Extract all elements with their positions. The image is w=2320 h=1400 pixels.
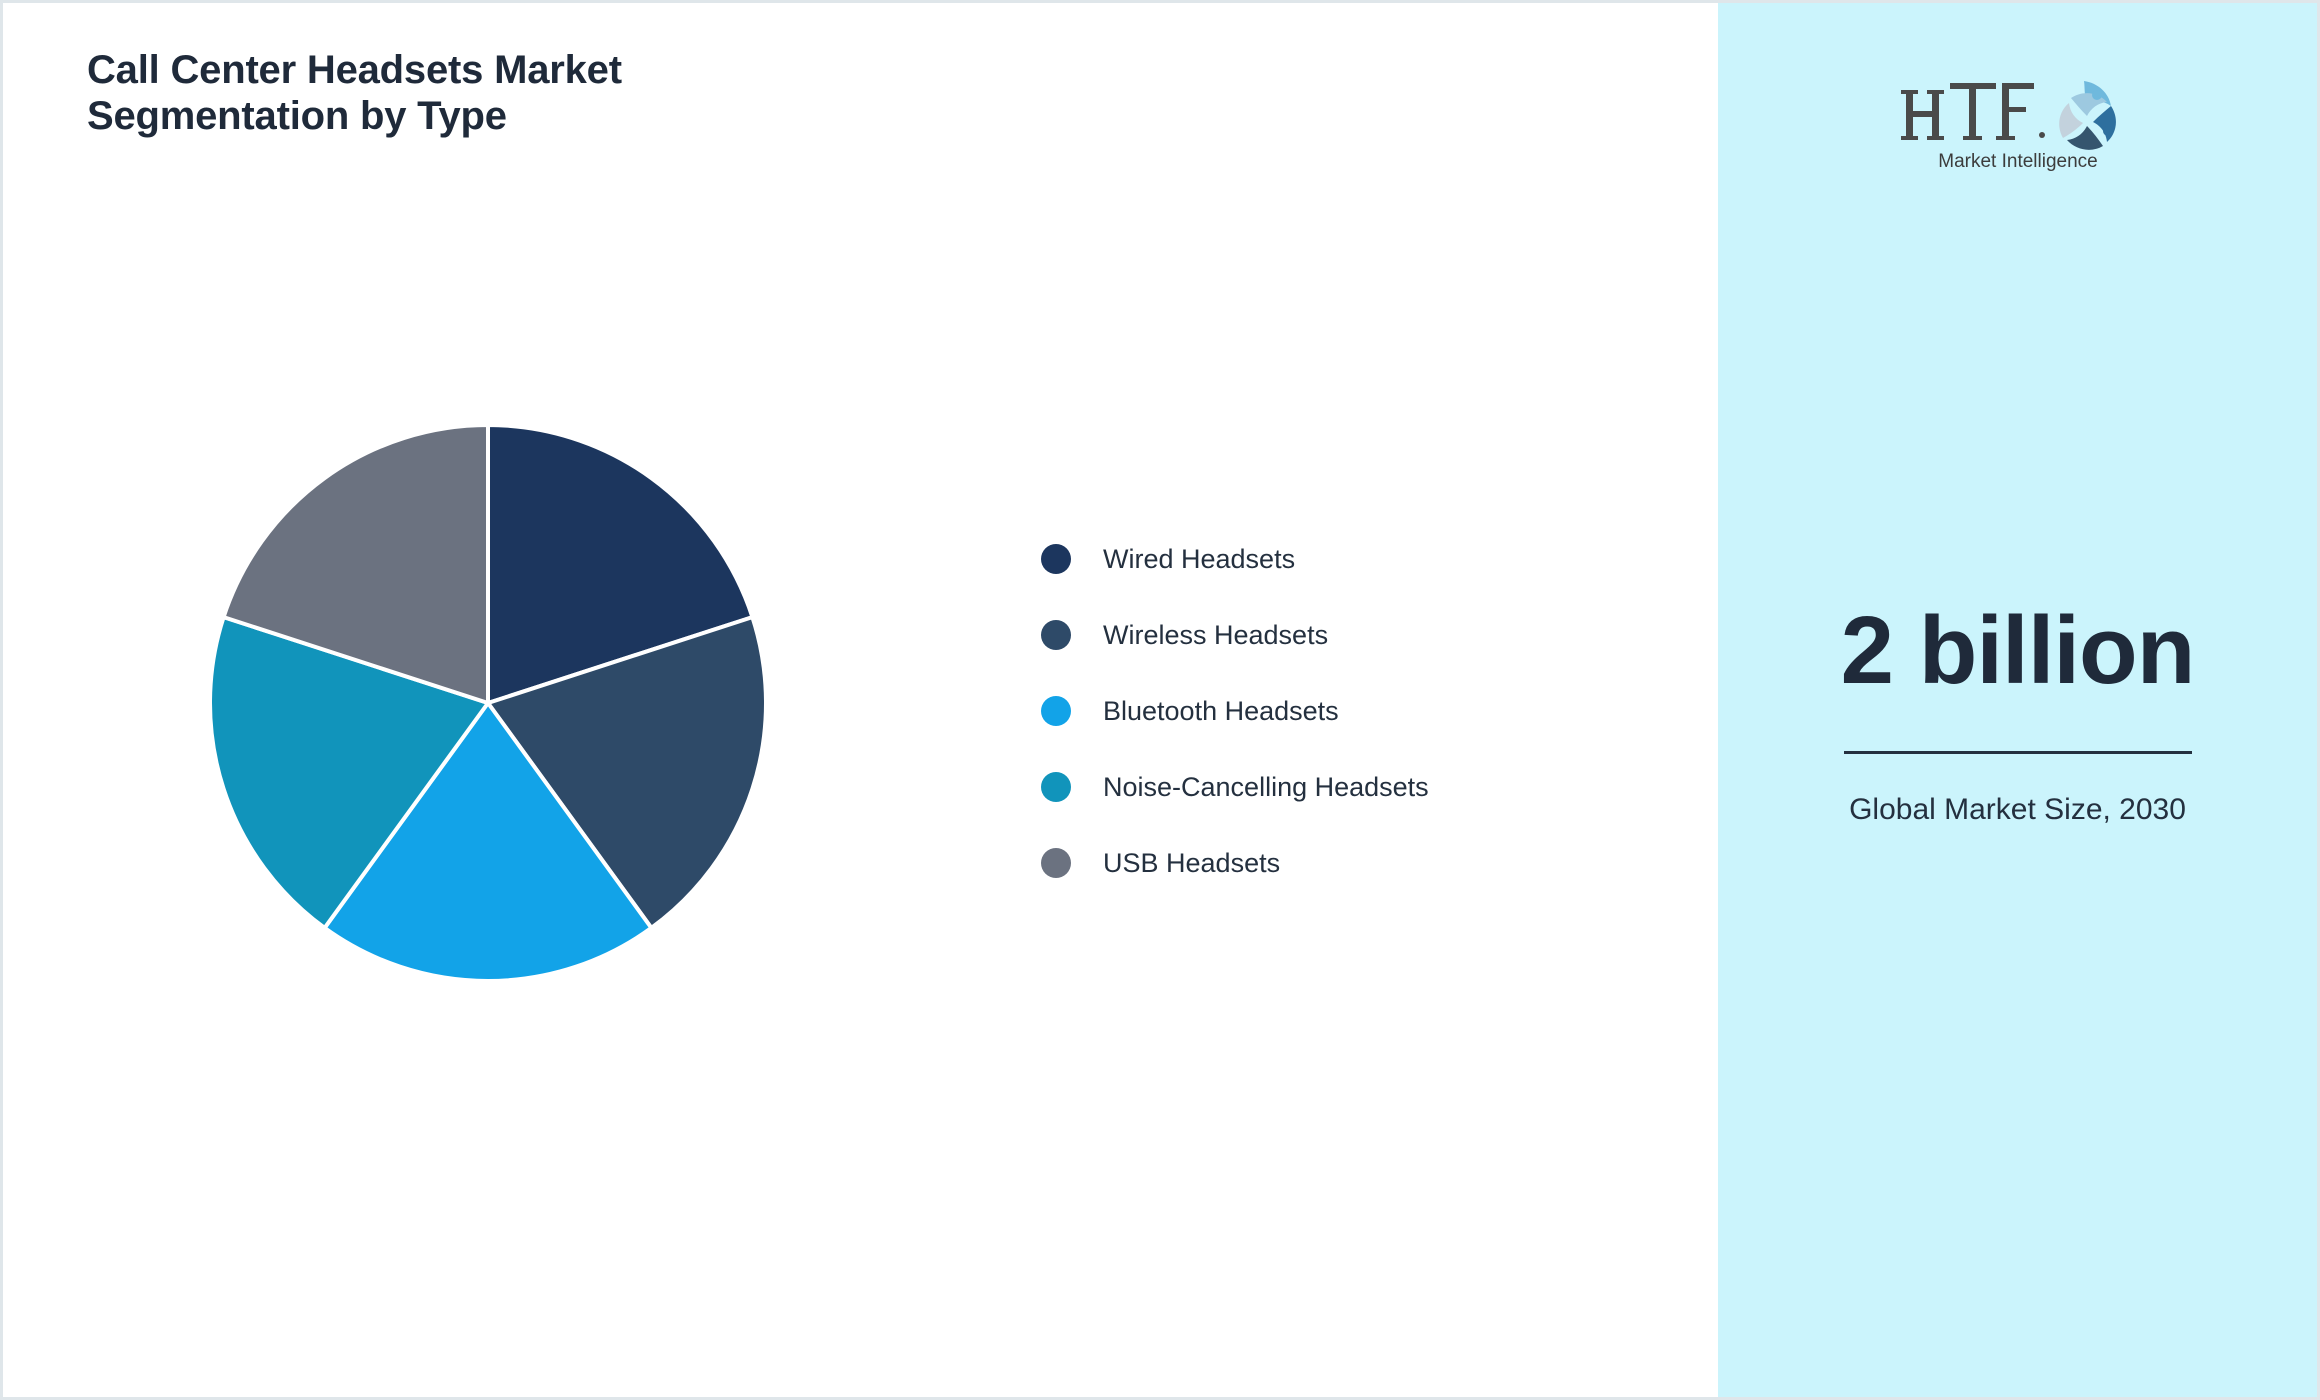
stat-value: 2 billion (1718, 603, 2317, 699)
legend-color-dot-icon (1041, 696, 1071, 726)
legend-item: Wireless Headsets (1041, 597, 1661, 673)
page-title-line-1: Call Center Headsets Market (87, 47, 987, 93)
stat-side-panel: Market Intelligence 2 billion Global Mar… (1718, 3, 2317, 1397)
legend-item: Noise-Cancelling Headsets (1041, 749, 1661, 825)
legend-item-label: Wired Headsets (1103, 544, 1295, 575)
stat-divider (1844, 751, 2192, 754)
legend-item-label: Wireless Headsets (1103, 620, 1328, 651)
legend-item-label: USB Headsets (1103, 848, 1280, 879)
pie-chart (208, 423, 768, 983)
logo-tagline: Market Intelligence (1938, 151, 2097, 172)
legend-item: Bluetooth Headsets (1041, 673, 1661, 749)
page-title-line-2: Segmentation by Type (87, 93, 987, 139)
brand-logo: Market Intelligence (1898, 65, 2138, 177)
legend-color-dot-icon (1041, 772, 1071, 802)
legend-item-label: Bluetooth Headsets (1103, 696, 1339, 727)
stat-caption: Global Market Size, 2030 (1718, 788, 2317, 832)
legend-color-dot-icon (1041, 848, 1071, 878)
legend-item-label: Noise-Cancelling Headsets (1103, 772, 1429, 803)
page-title: Call Center Headsets Market Segmentation… (87, 47, 987, 140)
legend-item: Wired Headsets (1041, 521, 1661, 597)
legend-item: USB Headsets (1041, 825, 1661, 901)
stat-block: 2 billion Global Market Size, 2030 (1718, 603, 2317, 832)
infographic-canvas: Call Center Headsets Market Segmentation… (0, 0, 2320, 1400)
pie-chart-svg (208, 423, 768, 983)
logo-wordmark-icon (1901, 83, 2045, 140)
brand-logo-svg: Market Intelligence (1898, 65, 2138, 177)
legend-color-dot-icon (1041, 620, 1071, 650)
three-figures-circle-icon (2059, 81, 2116, 150)
pie-slice-group (210, 425, 766, 981)
chart-legend: Wired HeadsetsWireless HeadsetsBluetooth… (1041, 521, 1661, 901)
left-content-panel: Call Center Headsets Market Segmentation… (3, 3, 1718, 1397)
legend-color-dot-icon (1041, 544, 1071, 574)
